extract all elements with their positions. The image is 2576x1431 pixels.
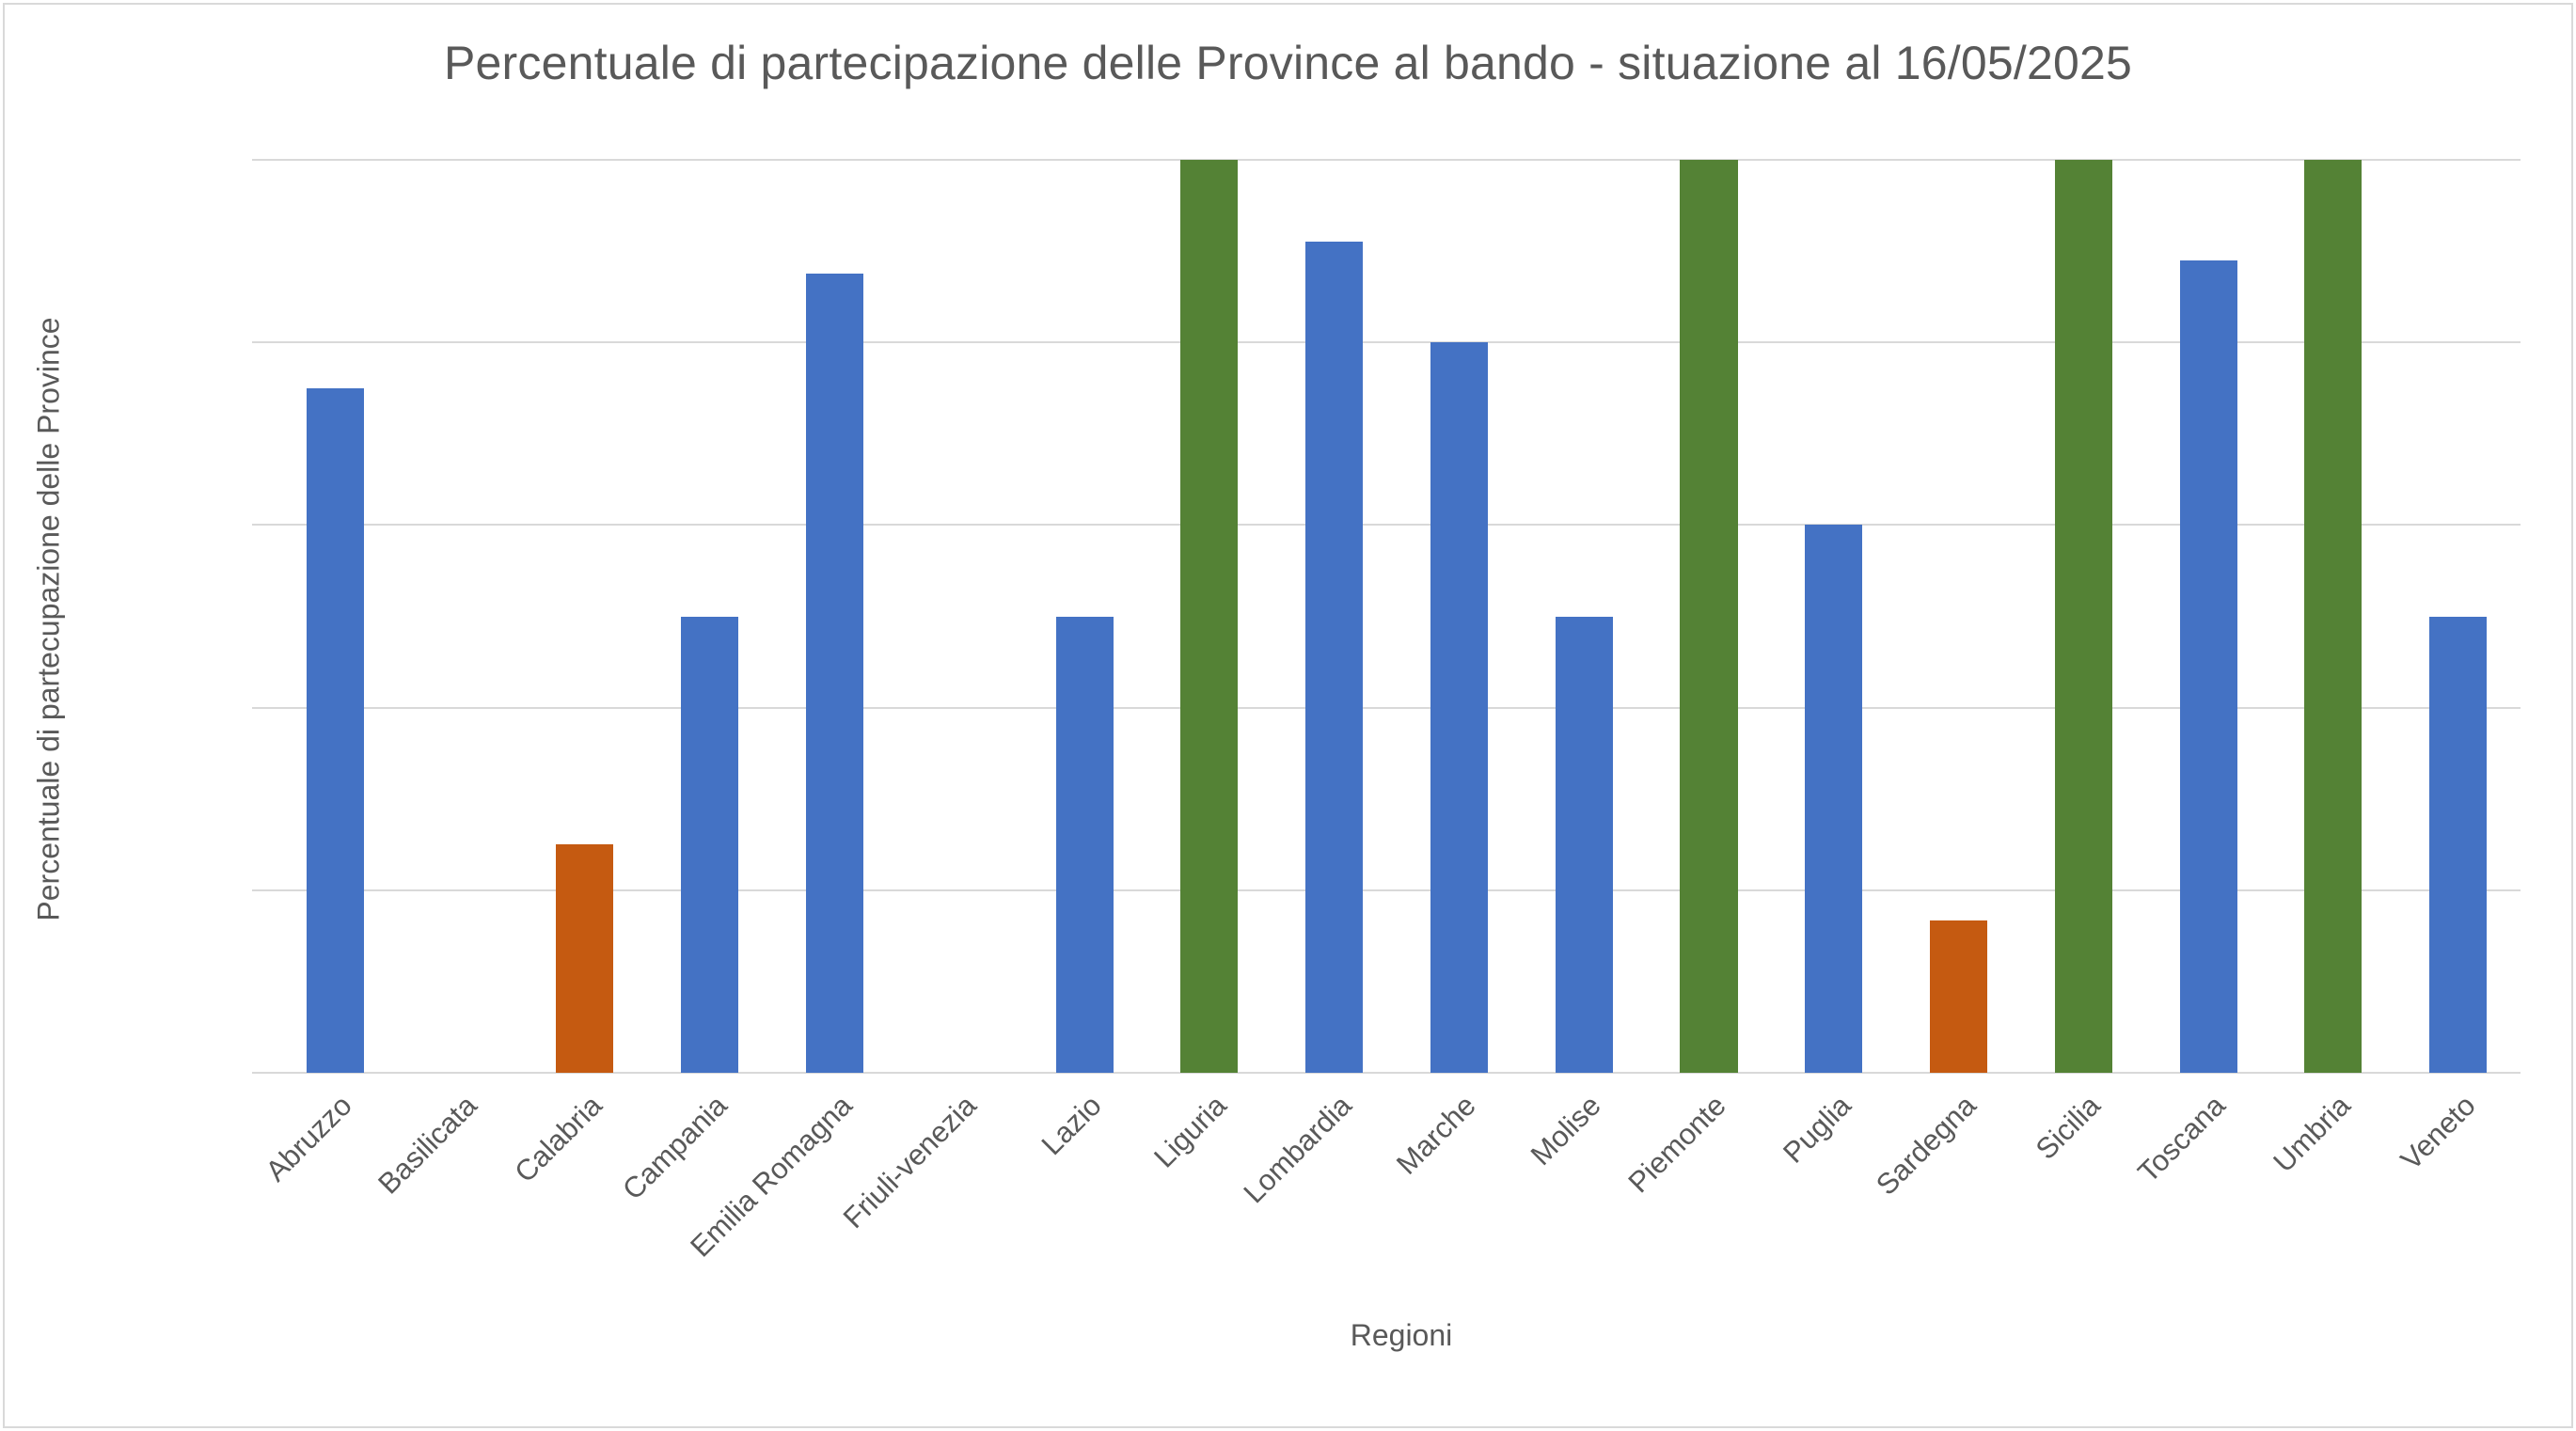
chart-container: Percentuale di partecipazione delle Prov… bbox=[0, 0, 2576, 1431]
x-tick-label: Toscana bbox=[2131, 1089, 2232, 1189]
bar-slot bbox=[1896, 160, 2021, 1073]
bar-slot bbox=[273, 160, 398, 1073]
bar-slot bbox=[2146, 160, 2271, 1073]
x-label-slot: Veneto bbox=[2395, 1083, 2521, 1309]
y-tick-mark bbox=[252, 889, 273, 891]
bar[interactable] bbox=[1680, 160, 1737, 1073]
y-tick-mark bbox=[252, 159, 273, 161]
bar-slot bbox=[523, 160, 648, 1073]
x-label-slot: Sicilia bbox=[2021, 1083, 2146, 1309]
bar-slot bbox=[1272, 160, 1397, 1073]
bar-slot bbox=[647, 160, 772, 1073]
x-tick-label: Umbria bbox=[2267, 1089, 2357, 1179]
y-axis-title: Percentuale di partecupazione delle Prov… bbox=[32, 197, 67, 1043]
bar-slot bbox=[897, 160, 1022, 1073]
bar[interactable] bbox=[806, 274, 863, 1073]
bar[interactable] bbox=[556, 844, 613, 1073]
x-tick-label: Veneto bbox=[2394, 1089, 2482, 1177]
x-tick-label: Puglia bbox=[1777, 1089, 1857, 1170]
bar[interactable] bbox=[2055, 160, 2112, 1073]
bar[interactable] bbox=[1180, 160, 1238, 1073]
bar[interactable] bbox=[1430, 342, 1488, 1073]
bar[interactable] bbox=[307, 388, 364, 1073]
bar[interactable] bbox=[1805, 525, 1862, 1073]
x-tick-label: Marche bbox=[1390, 1089, 1483, 1182]
x-label-slot: Molise bbox=[1522, 1083, 1647, 1309]
bar[interactable] bbox=[2304, 160, 2362, 1073]
bar-slot bbox=[1771, 160, 1896, 1073]
plot-area: 0%20%40%60%80%100% bbox=[273, 160, 2521, 1073]
bar-slot bbox=[2021, 160, 2146, 1073]
x-label-slot: Abruzzo bbox=[273, 1083, 398, 1309]
x-tick-label: Sicilia bbox=[2030, 1089, 2108, 1167]
bar[interactable] bbox=[1056, 617, 1114, 1074]
y-tick-mark bbox=[252, 707, 273, 709]
bar[interactable] bbox=[1930, 920, 1987, 1073]
x-label-slot: Sardegna bbox=[1896, 1083, 2021, 1309]
bar-slot bbox=[1522, 160, 1647, 1073]
bar-slot bbox=[1146, 160, 1272, 1073]
bar-slot bbox=[398, 160, 523, 1073]
x-label-slot: Friuli-venezia bbox=[897, 1083, 1022, 1309]
bar-slot bbox=[2271, 160, 2396, 1073]
bar[interactable] bbox=[1556, 617, 1613, 1074]
x-tick-label: Lazio bbox=[1035, 1089, 1109, 1162]
x-label-slot: Lombardia bbox=[1272, 1083, 1397, 1309]
bar-slot bbox=[772, 160, 897, 1073]
chart-title: Percentuale di partecipazione delle Prov… bbox=[0, 36, 2576, 90]
bar-slot bbox=[1647, 160, 1772, 1073]
x-tick-label: Calabria bbox=[508, 1089, 608, 1189]
x-label-slot: Marche bbox=[1397, 1083, 1522, 1309]
x-axis-category-labels: AbruzzoBasilicataCalabriaCampaniaEmilia … bbox=[273, 1083, 2521, 1309]
x-axis-title: Regioni bbox=[273, 1318, 2530, 1353]
x-label-slot: Puglia bbox=[1771, 1083, 1896, 1309]
bar[interactable] bbox=[2180, 260, 2237, 1073]
bar[interactable] bbox=[1305, 242, 1363, 1073]
x-tick-label: Molise bbox=[1525, 1089, 1608, 1172]
bar-slot bbox=[2395, 160, 2521, 1073]
bar-slot bbox=[1022, 160, 1147, 1073]
y-tick-mark bbox=[252, 1072, 273, 1074]
x-label-slot: Basilicata bbox=[398, 1083, 523, 1309]
y-tick-mark bbox=[252, 524, 273, 526]
bar-slot bbox=[1397, 160, 1522, 1073]
x-label-slot: Piemonte bbox=[1647, 1083, 1772, 1309]
x-label-slot: Toscana bbox=[2146, 1083, 2271, 1309]
x-label-slot: Lazio bbox=[1022, 1083, 1147, 1309]
x-tick-label: Abruzzo bbox=[260, 1089, 359, 1188]
bar[interactable] bbox=[681, 617, 738, 1074]
bar[interactable] bbox=[2429, 617, 2487, 1074]
x-tick-label: Liguria bbox=[1147, 1089, 1233, 1174]
y-tick-mark bbox=[252, 341, 273, 343]
x-label-slot: Umbria bbox=[2271, 1083, 2396, 1309]
bars-layer bbox=[273, 160, 2521, 1073]
